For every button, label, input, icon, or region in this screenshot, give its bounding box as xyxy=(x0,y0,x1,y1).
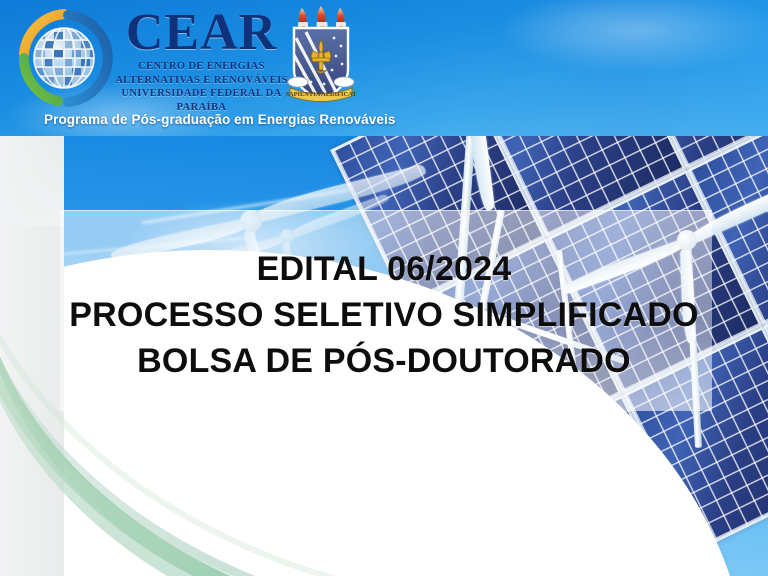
cear-subtitle-line-3: UNIVERSIDADE FEDERAL DA PARAÍBA xyxy=(104,87,299,114)
crest-motto-text: SAPIENTIA AEDIFICAT xyxy=(285,91,357,98)
left-gray-strip-fade xyxy=(0,136,64,226)
title-line-2: PROCESSO SELETIVO SIMPLIFICADO xyxy=(0,292,768,338)
poster-canvas: EDITAL 06/2024 PROCESSO SELETIVO SIMPLIF… xyxy=(0,0,768,576)
crest-motto-banner: SAPIENTIA AEDIFICAT xyxy=(285,88,357,102)
program-subtitle: Programa de Pós-graduação em Energias Re… xyxy=(44,112,544,127)
cear-globe-icon xyxy=(12,6,116,110)
cear-subtitle-line-2: ALTERNATIVAS E RENOVÁVEIS xyxy=(104,74,299,88)
ufpb-crest-icon: SAPIENTIA AEDIFICAT xyxy=(284,4,358,108)
title-line-1: EDITAL 06/2024 xyxy=(0,246,768,292)
title-block: EDITAL 06/2024 PROCESSO SELETIVO SIMPLIF… xyxy=(0,246,768,384)
page-header: CEAR CENTRO DE ENERGIAS ALTERNATIVAS E R… xyxy=(0,0,768,136)
cear-subtitle-line-1: CENTRO DE ENERGIAS xyxy=(104,60,299,74)
cear-wordmark-block: CEAR CENTRO DE ENERGIAS ALTERNATIVAS E R… xyxy=(104,6,299,106)
title-line-3: BOLSA DE PÓS-DOUTORADO xyxy=(0,338,768,384)
cear-wordmark: CEAR xyxy=(104,6,299,60)
